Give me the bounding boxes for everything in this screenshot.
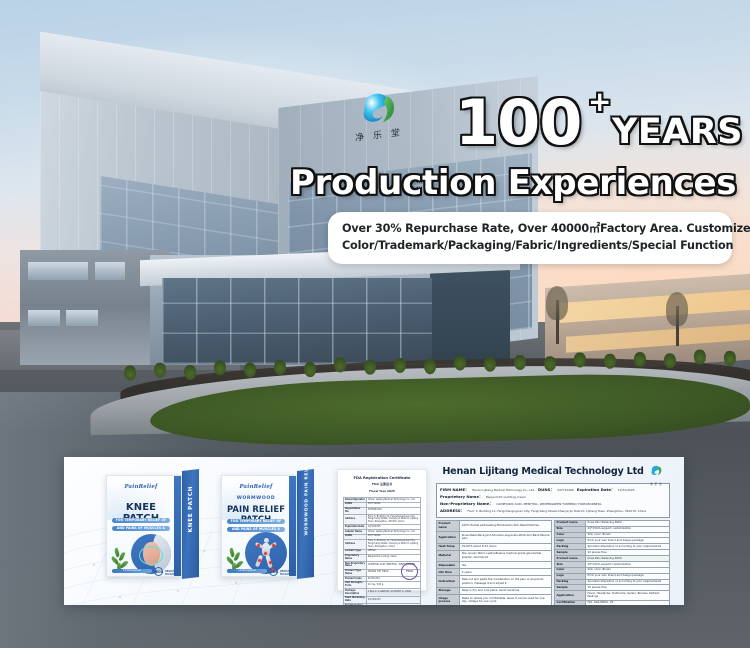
row-label: Non-Proprietary Name bbox=[344, 562, 367, 570]
years-label: YEARS bbox=[612, 112, 743, 152]
knee-illustration bbox=[131, 534, 171, 574]
product-bullet-1a: FOR TEMPORARY RELIEF OF ACHES bbox=[112, 518, 170, 523]
row-label: Address bbox=[344, 515, 367, 525]
headline-subtitle: Production Experiences bbox=[290, 163, 736, 203]
spec-table-left: Product name100% Herbal self-heating Mox… bbox=[436, 520, 552, 605]
company-spec-sheet: Henan Lijitang Medical Technology Ltd 净 … bbox=[436, 461, 670, 599]
spec-info-row-nonproprietary: Non-Proprietary Name： CAMPHORIC ACID, ME… bbox=[440, 500, 666, 507]
row-label: Proprietary Name bbox=[344, 554, 367, 562]
certificate-table: Owner/OperatorHenan Lijitang Medical Tec… bbox=[343, 497, 421, 605]
box-edge-strip-1 bbox=[174, 476, 181, 577]
row-label: Certification bbox=[555, 600, 586, 605]
fda-badge-sub-1: REGISTERED FACILITY bbox=[165, 570, 181, 576]
row-label: Application bbox=[437, 532, 460, 543]
row-label: Instruction bbox=[437, 576, 460, 587]
caption-pill: Over 30% Repurchase Rate, Over 40000㎡Fac… bbox=[328, 212, 732, 264]
row-label: Start Marketing Date bbox=[344, 596, 367, 604]
row-value: Keep in dry and cool place, avoid sunshi… bbox=[460, 587, 552, 594]
row-value: Floor 3, Building 11, Fengchangxiyuan Ci… bbox=[366, 539, 420, 549]
runner-illustration bbox=[245, 532, 287, 574]
row-label: Disposable bbox=[437, 562, 460, 569]
table-row: Usage processPaste on where you comforta… bbox=[437, 595, 552, 605]
firm-name-label: FIRM NAME： bbox=[440, 487, 469, 493]
company-logo-chinese-text: 净 乐 堂 bbox=[649, 482, 664, 486]
table-row: AddressFloor 3, Building 11, Fengchangxi… bbox=[344, 539, 421, 549]
knee-highlight-ring bbox=[139, 546, 163, 565]
table-row: Proprietary NamePeppermint cooling cream bbox=[344, 554, 421, 562]
spec-info-row-address: ADDRESS： Floor 3, Building 11, Fengchang… bbox=[440, 508, 666, 515]
certificate-seal: FDA bbox=[401, 563, 418, 580]
row-value: 3 years bbox=[460, 569, 552, 576]
product-count-strip-1: 10 Pieces/box bbox=[112, 569, 152, 573]
product-subtitle-2: WORMWOOD bbox=[222, 496, 290, 501]
row-value: Yes bbox=[460, 562, 552, 569]
duns-label: DUNS： bbox=[538, 487, 554, 493]
row-label: Application bbox=[555, 591, 586, 600]
firm-name-value: Henan Lijitang Medical Technology Co., L… bbox=[472, 488, 535, 492]
spec-info-row-proprietary: Proprietary Name： Peppermint soothing cr… bbox=[440, 493, 666, 500]
table-row: ApplicationKnee,Waist,Neck,Joint,Shoulde… bbox=[437, 532, 552, 543]
fda-registration-certificate: FDA Registration Certificate FDA 注册证书 Fi… bbox=[337, 469, 427, 591]
row-label: Address bbox=[344, 539, 367, 549]
table-row: DisposableYes bbox=[437, 562, 552, 569]
non-proprietary-name-label: Non-Proprietary Name： bbox=[440, 501, 493, 507]
herb-leaf-1b bbox=[119, 552, 126, 562]
fda-badge-label-2: FDA bbox=[271, 570, 278, 574]
product-info-panel: KNEE PATCH PainRelief KNEE PATCH FOR TEM… bbox=[64, 457, 684, 605]
row-value: ISO, SGS,MSDS, CE bbox=[586, 600, 670, 605]
years-number: 100 bbox=[455, 92, 581, 154]
table-row: Life time3 years bbox=[437, 569, 552, 576]
product-bullet-2b: AND PAINS OF MUSCLES & JOINTS bbox=[227, 527, 285, 532]
row-label: Heat Temp bbox=[437, 543, 460, 550]
spec-info-block: FIRM NAME： Henan Lijitang Medical Techno… bbox=[436, 483, 670, 518]
row-value: 10 mg / 100 g bbox=[366, 581, 420, 589]
fda-badge-sub-2: REGISTERED FACILITY bbox=[280, 570, 296, 576]
row-label: Unit Strength / Form bbox=[344, 581, 367, 589]
spec-header: Henan Lijitang Medical Technology Ltd 净 … bbox=[436, 461, 670, 481]
non-proprietary-name-value: CAMPHORIC ACID, MENTHOL, WINTERGREEN TUR… bbox=[496, 502, 601, 506]
table-row: Product name100% Herbal self-heating Mox… bbox=[437, 520, 552, 531]
proprietary-name-label: Proprietary Name： bbox=[440, 494, 483, 500]
row-value: 100% Herbal self-heating Moxibustion Pai… bbox=[460, 520, 552, 531]
table-row: CertificationISO, SGS,MSDS, CE bbox=[555, 600, 670, 605]
row-value: Peppermint cooling cream bbox=[366, 554, 420, 562]
table-row: InstructionTake out and paste the moxibu… bbox=[437, 576, 552, 587]
duns-value: 547710266 bbox=[557, 488, 574, 492]
expiration-date-value: 12/31/2025 bbox=[618, 488, 635, 492]
address-value: Floor 3, Building 11, Fengchangxiyuan Ci… bbox=[467, 509, 646, 513]
product-brand-1: PainRelief bbox=[107, 484, 175, 490]
row-value: 12/31/2025 bbox=[366, 604, 420, 605]
product-bullet-1b: AND PAINS OF MUSCLES & JOINTS bbox=[112, 526, 170, 531]
address-label: ADDRESS： bbox=[440, 508, 464, 514]
product-box-pain-relief-patch: WORMWOOD PAIN RELIEF PATCH PainRelief WO… bbox=[221, 475, 317, 585]
row-label: Product Type Name bbox=[344, 569, 367, 577]
row-label: Package Description bbox=[344, 589, 367, 597]
product-box-knee-patch: KNEE PATCH PainRelief KNEE PATCH FOR TEM… bbox=[106, 475, 202, 585]
headline-block: 100 + YEARS Production Experiences Over … bbox=[0, 0, 750, 330]
spec-info-row-firm: FIRM NAME： Henan Lijitang Medical Techno… bbox=[440, 486, 666, 493]
row-value: Floor 3, Building 11, Fengchangxiyuan Ci… bbox=[366, 515, 420, 525]
herb-leaf-2b bbox=[234, 552, 241, 562]
row-value: Fever, Headache, Toothache, Sprain, Brui… bbox=[586, 591, 670, 600]
product-box-face-1: PainRelief KNEE PATCH FOR TEMPORARY RELI… bbox=[106, 475, 182, 577]
certificate-year: Fiscal Year 2025 bbox=[343, 489, 421, 493]
row-value: Non-woven fabric+self-adhesive medical g… bbox=[460, 550, 552, 561]
expiration-date-label: Expiration Date： bbox=[577, 487, 615, 493]
row-label: Storage bbox=[437, 587, 460, 594]
row-label: Registration No. bbox=[344, 507, 367, 515]
row-value: 10/12/2023 bbox=[366, 596, 420, 604]
row-value: 1 Box in 1 CARTON / 10 PATCH in 1 BOX bbox=[366, 589, 420, 597]
row-label: Product name bbox=[437, 520, 460, 531]
row-value: 45-60℃ about 8-12 hours bbox=[460, 543, 552, 550]
table-row: ApplicationFever, Headache, Toothache, S… bbox=[555, 591, 670, 600]
caption-line-2: Color/Trademark/Packaging/Fabric/Ingredi… bbox=[342, 237, 718, 254]
table-row: AddressFloor 3, Building 11, Fengchangxi… bbox=[344, 515, 421, 525]
company-logo-icon: 净 乐 堂 bbox=[649, 464, 664, 479]
table-row: MaterialNon-woven fabric+self-adhesive m… bbox=[437, 550, 552, 561]
row-label: End Marketing Date bbox=[344, 604, 367, 605]
product-bullet-2a: FOR TEMPORARY RELIEF OF ACHES bbox=[227, 519, 285, 524]
table-row: End Marketing Date12/31/2025 bbox=[344, 604, 421, 605]
product-brand-2: PainRelief bbox=[222, 484, 290, 490]
table-row: Start Marketing Date10/12/2023 bbox=[344, 596, 421, 604]
product-spine-label-2: WORMWOOD PAIN RELIEF PATCH bbox=[304, 481, 309, 536]
pain-point-shoulder-right bbox=[272, 544, 275, 547]
product-spine-label-1: KNEE PATCH bbox=[188, 482, 194, 537]
fda-badge-label-1: FDA bbox=[156, 570, 163, 574]
product-box-face-2: PainRelief WORMWOOD PAIN RELIEF PATCH FO… bbox=[221, 475, 297, 577]
product-box-spine-2: WORMWOOD PAIN RELIEF PATCH bbox=[297, 469, 314, 579]
row-label: Usage process bbox=[437, 595, 460, 605]
certificate-title: FDA Registration Certificate bbox=[343, 476, 421, 480]
caption-line-1: Over 30% Repurchase Rate, Over 40000㎡Fac… bbox=[342, 220, 718, 237]
row-label: Material bbox=[437, 550, 460, 561]
plus-symbol: + bbox=[588, 85, 611, 118]
table-row: Unit Strength / Form10 mg / 100 g bbox=[344, 581, 421, 589]
proprietary-name-value: Peppermint soothing cream bbox=[486, 495, 526, 499]
spec-tables-wrap: Product name100% Herbal self-heating Mox… bbox=[436, 520, 670, 605]
row-value: Take out and paste the moxibustion on th… bbox=[460, 576, 552, 587]
promo-banner: 净 乐 堂 bbox=[0, 0, 750, 648]
row-value: Knee,Waist,Neck,Joint,Shoulder,Leg,Ankle… bbox=[460, 532, 552, 543]
table-row: Package Description1 Box in 1 CARTON / 1… bbox=[344, 589, 421, 597]
box-edge-strip-2 bbox=[289, 476, 296, 577]
spec-table-right: Product nameKnee Pain Relieving PatchSiz… bbox=[554, 520, 670, 605]
pain-point-knee-left bbox=[258, 559, 261, 562]
certificate-subtitle: FDA 注册证书 bbox=[343, 482, 421, 486]
company-name: Henan Lijitang Medical Technology Ltd bbox=[442, 466, 643, 477]
row-value: 3032850125 bbox=[366, 507, 420, 515]
table-row: Registration No.3032850125 bbox=[344, 507, 421, 515]
row-label: Life time bbox=[437, 569, 460, 576]
product-count-strip-2: 10 Pieces/box bbox=[227, 569, 267, 573]
table-row: StorageKeep in dry and cool place, avoid… bbox=[437, 587, 552, 594]
table-row: Heat Temp45-60℃ about 8-12 hours bbox=[437, 543, 552, 550]
product-box-spine-1: KNEE PATCH bbox=[182, 469, 199, 579]
row-value: Paste on where you comfortable, leave it… bbox=[460, 595, 552, 605]
